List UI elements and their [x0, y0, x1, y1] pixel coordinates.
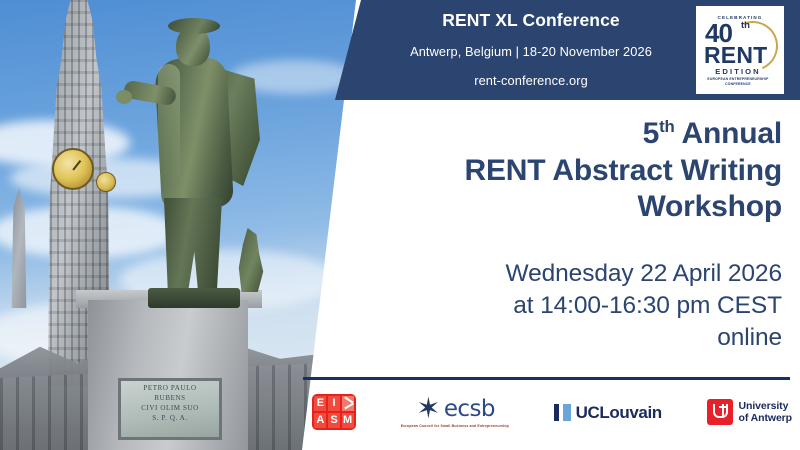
- conference-title: RENT XL Conference: [381, 12, 681, 30]
- headline-edition-ordinal: th: [659, 117, 674, 136]
- event-poster: PETRO PAULO RUBENS CIVI OLIM SUO S. P. Q…: [0, 0, 800, 450]
- inscription-line: S. P. Q. A.: [152, 415, 188, 422]
- footer-divider: [303, 377, 790, 380]
- eiasm-figure-icon: [342, 396, 354, 411]
- event-time: at 14:00-16:30 pm CEST: [302, 290, 782, 322]
- partner-logos: E I A S M ✶ ecsb European Council for Sm…: [312, 386, 792, 438]
- headline-line-2: RENT Abstract Writing: [302, 153, 782, 190]
- headline-line-3: Workshop: [302, 189, 782, 226]
- banner-text-block: RENT XL Conference Antwerp, Belgium | 18…: [381, 8, 681, 88]
- event-mode: online: [302, 322, 782, 354]
- tower-clock-icon: [52, 148, 94, 190]
- tower-clock-small-icon: [96, 172, 116, 192]
- statue-highlight: [158, 64, 180, 184]
- ecsb-star-icon: ✶: [415, 396, 442, 423]
- event-date: Wednesday 22 April 2026: [302, 258, 782, 290]
- rent-40th-edition-badge: CELEBRATING 40 th RENT EDITION EUROPEAN …: [696, 6, 784, 94]
- pedestal-inscription: PETRO PAULO RUBENS CIVI OLIM SUO S. P. Q…: [118, 378, 222, 440]
- conference-location-dates: Antwerp, Belgium | 18-20 November 2026: [381, 46, 681, 59]
- statue-legs: [160, 198, 226, 294]
- workshop-headline: 5th Annual RENT Abstract Writing Worksho…: [302, 116, 782, 226]
- badge-edition-label: EDITION: [705, 67, 771, 76]
- headline-annual-label: Annual: [675, 117, 782, 150]
- uclouvain-wordmark: UCLouvain: [576, 404, 662, 421]
- uclouvain-logo[interactable]: UCLouvain: [554, 404, 662, 421]
- eiasm-letter-s: S: [328, 413, 340, 428]
- headline-edition-number: 5: [643, 117, 660, 150]
- uclouvain-square-icon: [554, 404, 571, 421]
- statue-side-figure: [234, 228, 268, 292]
- eiasm-letter-i: I: [328, 396, 340, 411]
- university-of-antwerp-logo[interactable]: University of Antwerp: [707, 399, 792, 425]
- eiasm-letter-m: M: [342, 413, 354, 428]
- antwerp-wordmark-line-2: of Antwerp: [739, 412, 792, 424]
- badge-footnote: EUROPEAN ENTREPRENEURSHIP CONFERENCE: [705, 77, 771, 87]
- statue-hand: [116, 90, 132, 104]
- badge-ordinal: th: [741, 21, 750, 31]
- inscription-line: RUBENS: [154, 395, 185, 402]
- rubens-statue: [130, 20, 280, 305]
- headline-line-1: 5th Annual: [302, 116, 782, 153]
- statue-hat: [168, 18, 220, 34]
- badge-wordmark: RENT: [704, 44, 767, 67]
- event-details: Wednesday 22 April 2026 at 14:00-16:30 p…: [302, 258, 782, 354]
- eiasm-letter-a: A: [314, 413, 326, 428]
- ecsb-wordmark: ecsb: [444, 398, 495, 421]
- inscription-line: CIVI OLIM SUO: [141, 405, 199, 412]
- eiasm-letter-e: E: [314, 396, 326, 411]
- inscription-line: PETRO PAULO: [143, 385, 196, 392]
- antwerp-wordmark: University of Antwerp: [739, 400, 792, 425]
- eiasm-logo[interactable]: E I A S M: [312, 394, 356, 430]
- antwerp-u-plus-icon: [707, 399, 733, 425]
- conference-website-link[interactable]: rent-conference.org: [381, 75, 681, 88]
- statue-plinth: [148, 288, 240, 308]
- badge-inner: CELEBRATING 40 th RENT EDITION EUROPEAN …: [701, 11, 779, 89]
- ecsb-row: ✶ ecsb: [415, 396, 495, 423]
- antwerp-wordmark-line-1: University: [739, 400, 792, 412]
- ecsb-logo[interactable]: ✶ ecsb European Council for Small Busine…: [401, 396, 509, 428]
